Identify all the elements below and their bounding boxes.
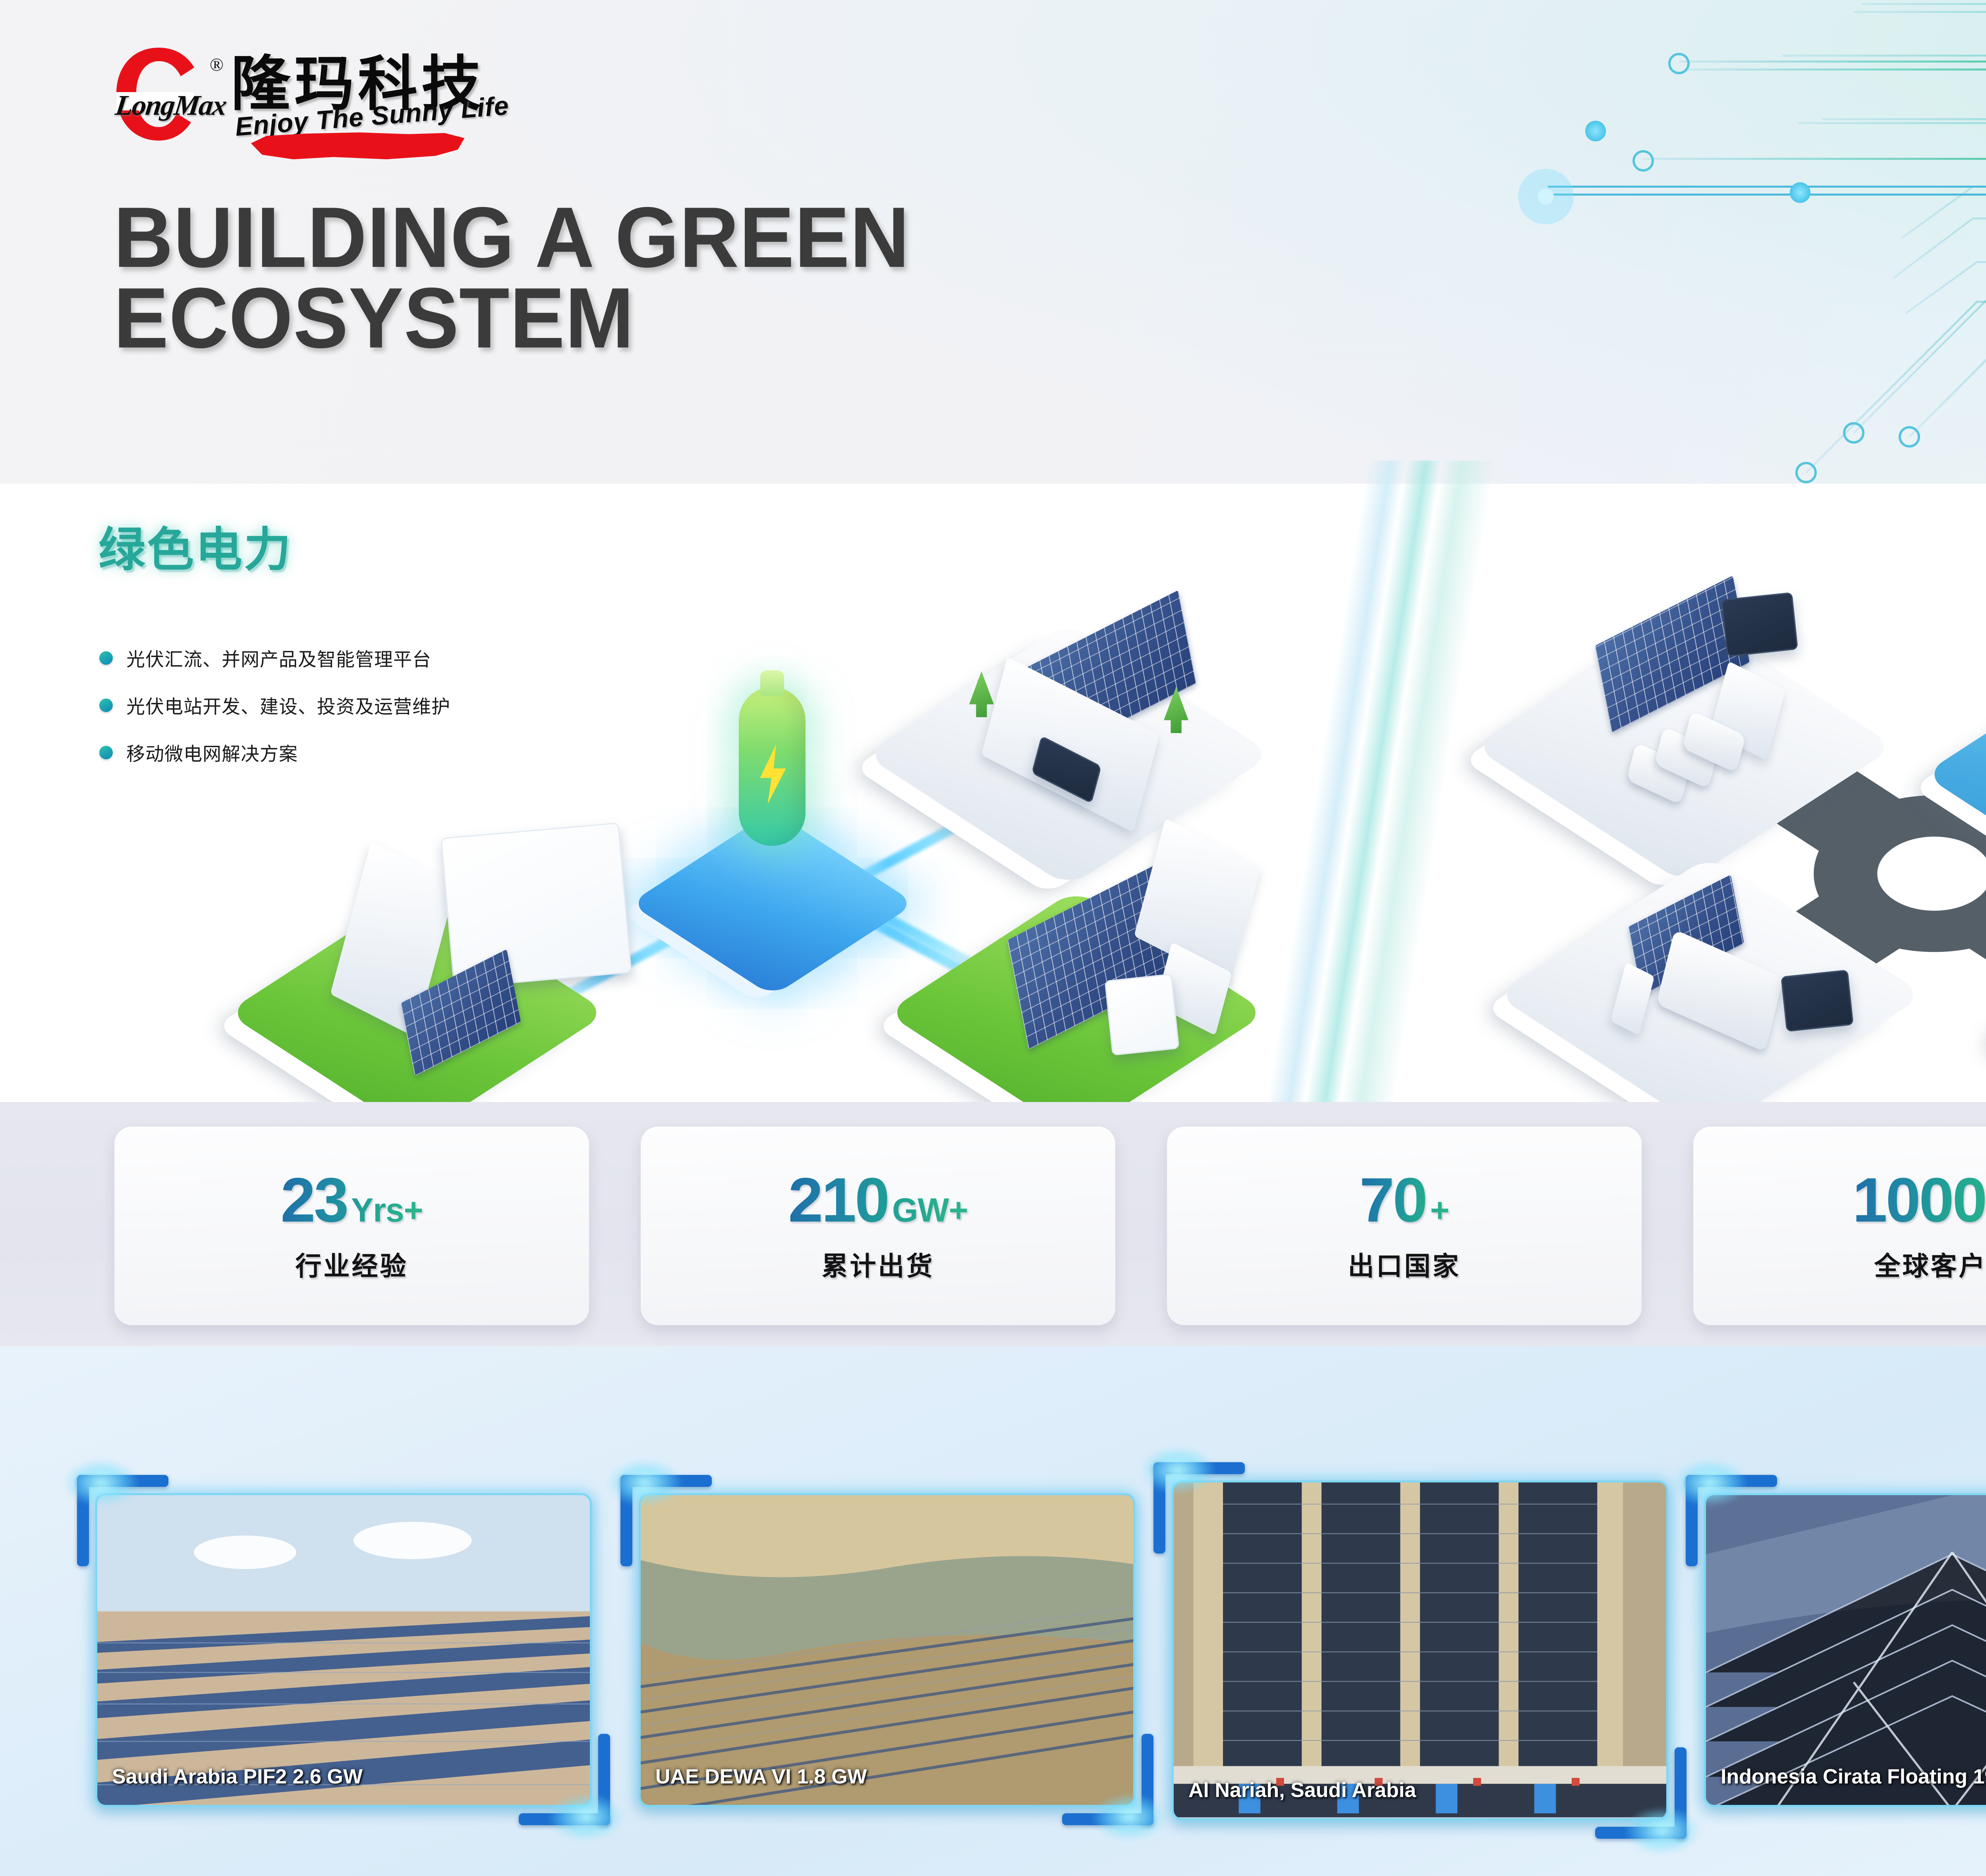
projects-band: Saudi Arabia PIF2 2.6 GW (0, 1346, 1986, 1876)
green-power-illustration (238, 528, 1430, 1084)
monitoring-dashboard-screen (440, 822, 632, 988)
stat-unit: Yrs+ (351, 1193, 423, 1227)
stat-card: 23 Yrs+ 行业经验 (114, 1127, 589, 1325)
list-item-label: 光伏汇流、并网产品及智能管理平台 (126, 644, 431, 672)
corner-glow-decoration (548, 1793, 624, 1841)
project-card[interactable]: UAE DEWA VI 1.8 GW (639, 1493, 1135, 1807)
bullet-dot-icon (99, 699, 113, 712)
project-caption: Indonesia Cirata Floating 192 MW (1721, 1765, 1986, 1789)
project-caption: UAE DEWA VI 1.8 GW (655, 1765, 867, 1789)
stat-card: 210 GW+ 累计出货 (641, 1127, 1115, 1325)
project-card[interactable]: Al Nariah, Saudi Arabia (1172, 1480, 1668, 1820)
logo-latin-text: LongMax (114, 89, 208, 122)
project-image-frame (95, 1493, 592, 1807)
stat-unit: + (1430, 1193, 1449, 1227)
charging-dashboard-screen (1721, 592, 1798, 657)
corner-glow-decoration (607, 1459, 682, 1507)
stat-value-group: 210 GW+ (788, 1169, 968, 1231)
list-item: 移动微电网解决方案 (99, 739, 450, 766)
stats-band: 23 Yrs+ 行业经验 210 GW+ 累计出货 70 + 出口国家 1000… (0, 1102, 1986, 1346)
bullet-dot-icon (99, 746, 113, 759)
list-item-label: 移动微电网解决方案 (126, 739, 298, 766)
project-caption: Al Nariah, Saudi Arabia (1188, 1778, 1416, 1802)
stat-value: 23 (280, 1169, 347, 1231)
project-caption: Saudi Arabia PIF2 2.6 GW (112, 1765, 363, 1789)
list-item: 光伏电站开发、建设、投资及运营维护 (99, 691, 450, 719)
corner-glow-decoration (1140, 1446, 1215, 1494)
headline-line-2: ECOSYSTEM (114, 278, 910, 358)
stat-value: 1000 (1853, 1169, 1986, 1231)
stat-label: 出口国家 (1348, 1245, 1461, 1283)
stat-value: 70 (1360, 1169, 1426, 1231)
stat-value-group: 1000 + (1853, 1169, 1986, 1231)
red-brush-stroke-icon (244, 132, 467, 160)
stat-card: 1000 + 全球客户 (1693, 1127, 1986, 1325)
project-photo (1174, 1482, 1666, 1817)
stat-value: 210 (788, 1169, 888, 1231)
list-item: 光伏汇流、并网产品及智能管理平台 (99, 644, 450, 672)
green-power-title: 绿色电力 (99, 511, 292, 579)
project-photo (97, 1495, 590, 1807)
project-image-frame (639, 1493, 1135, 1807)
project-image-frame (1172, 1480, 1668, 1820)
page-title: BUILDING A GREEN ECOSYSTEM (114, 197, 910, 358)
project-card[interactable]: Indonesia Cirata Floating 192 MW (1704, 1493, 1986, 1807)
green-mobility-illustration (1509, 556, 1986, 1072)
site-tablet-screen (1105, 974, 1180, 1056)
stat-card: 70 + 出口国家 (1167, 1127, 1642, 1325)
rickshaw-management-screen (1781, 969, 1854, 1032)
corner-glow-decoration (1625, 1807, 1700, 1855)
project-card[interactable]: Saudi Arabia PIF2 2.6 GW (95, 1493, 592, 1807)
corner-glow-decoration (1672, 1459, 1748, 1507)
registered-trademark-icon: ® (210, 54, 224, 75)
stat-label: 累计出货 (822, 1245, 935, 1283)
green-power-bullet-list: 光伏汇流、并网产品及智能管理平台 光伏电站开发、建设、投资及运营维护 移动微电网… (99, 644, 450, 766)
corner-glow-decoration (64, 1459, 139, 1507)
circuit-pattern-decoration (1504, 0, 1986, 484)
stat-value-group: 70 + (1360, 1169, 1449, 1231)
stat-label: 全球客户 (1874, 1245, 1986, 1283)
project-photo (641, 1495, 1133, 1807)
header-band: LongMax ® 隆玛科技 Enjoy The Sunny Life BUIL… (0, 0, 1986, 484)
bullet-dot-icon (99, 651, 113, 665)
stat-label: 行业经验 (296, 1245, 408, 1283)
corner-glow-decoration (1092, 1793, 1167, 1841)
company-logo: LongMax ® 隆玛科技 Enjoy The Sunny Life (113, 34, 558, 165)
stat-value-group: 23 Yrs+ (280, 1169, 423, 1231)
list-item-label: 光伏电站开发、建设、投资及运营维护 (126, 691, 450, 719)
headline-line-1: BUILDING A GREEN (114, 197, 910, 278)
stat-unit: GW+ (892, 1193, 968, 1227)
